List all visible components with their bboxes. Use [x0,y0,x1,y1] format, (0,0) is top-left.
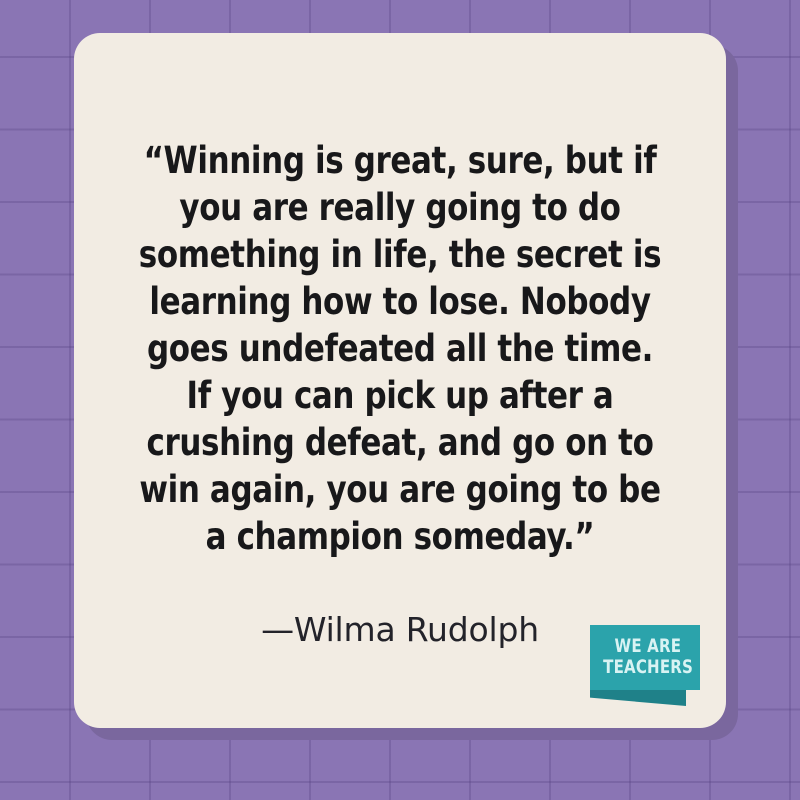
quote-text: “Winning is great, sure, but if you are … [130,137,669,560]
quote-card: “Winning is great, sure, but if you are … [74,33,726,728]
logo-line-teachers: TEACHERS [603,657,693,678]
logo-line-we-are: WE ARE [615,636,682,657]
we-are-teachers-logo[interactable]: WE ARE TEACHERS [590,625,700,723]
logo-wordmark: WE ARE TEACHERS [590,625,700,690]
